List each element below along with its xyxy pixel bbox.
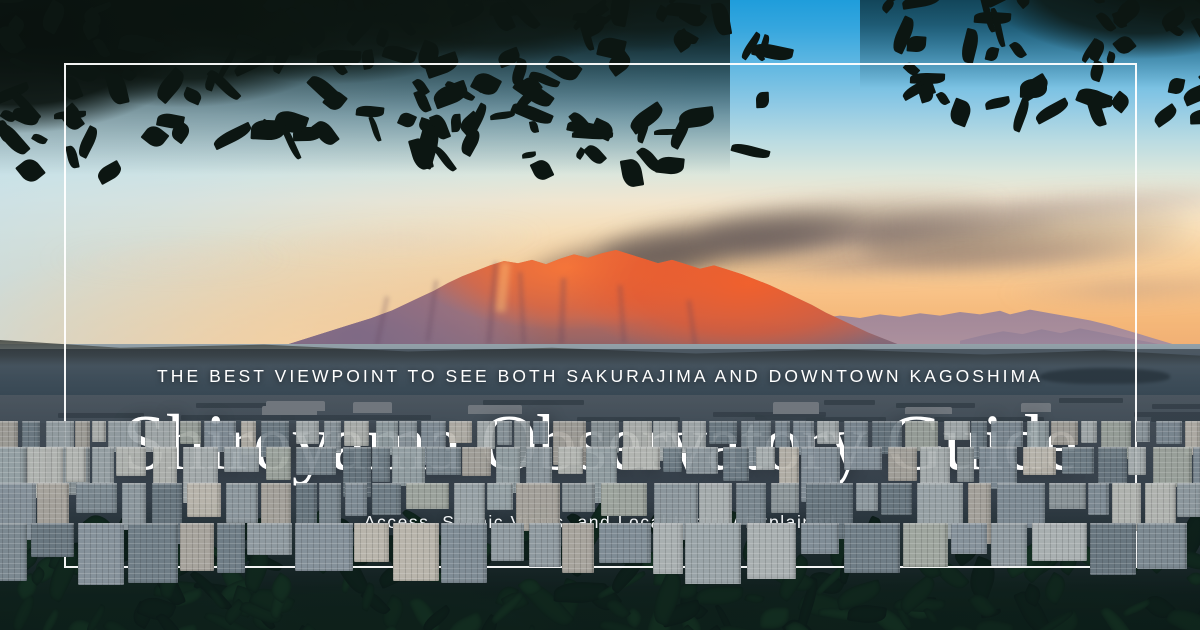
building-roof xyxy=(354,523,389,525)
building-roof xyxy=(903,523,948,525)
building-roof xyxy=(92,421,106,423)
building-roof xyxy=(968,483,991,485)
building xyxy=(354,523,389,562)
building-roof xyxy=(951,523,987,525)
building-roof xyxy=(1023,447,1056,449)
building-roof xyxy=(793,421,814,423)
building xyxy=(709,421,737,444)
building xyxy=(1153,447,1192,487)
building-roof xyxy=(31,523,74,525)
building-roof xyxy=(801,447,840,449)
building xyxy=(491,523,524,561)
building xyxy=(295,523,353,571)
building xyxy=(319,483,341,524)
building-roof xyxy=(971,421,987,423)
building xyxy=(747,523,796,579)
building-roof xyxy=(75,421,90,423)
building-roof xyxy=(1101,421,1131,423)
building-roof xyxy=(997,483,1045,485)
building-roof xyxy=(599,523,651,525)
building-roof xyxy=(682,421,706,423)
building xyxy=(1051,421,1078,445)
building xyxy=(75,421,90,448)
building-roof xyxy=(497,421,512,423)
building-roof xyxy=(399,421,417,423)
building-roof xyxy=(1153,447,1192,449)
building-roof xyxy=(0,421,18,423)
building-roof xyxy=(844,447,882,449)
hero-banner: THE BEST VIEWPOINT TO SEE BOTH SAKURAJIM… xyxy=(0,0,1200,630)
building xyxy=(372,447,390,482)
building-roof xyxy=(516,483,560,485)
building xyxy=(736,483,766,525)
building xyxy=(477,421,495,449)
building xyxy=(844,447,882,470)
building-roof xyxy=(421,421,446,423)
building-roof xyxy=(558,447,583,449)
building-roof xyxy=(449,421,472,423)
building-roof xyxy=(296,483,317,485)
building-roof xyxy=(1032,523,1087,525)
building-roof xyxy=(514,421,530,423)
building xyxy=(1137,523,1187,569)
building xyxy=(957,447,974,482)
building-roof xyxy=(0,447,25,449)
building xyxy=(78,523,124,585)
building-roof xyxy=(586,447,617,449)
building-roof xyxy=(441,523,487,525)
building-roof xyxy=(663,447,682,449)
building xyxy=(266,447,291,480)
building xyxy=(775,421,790,448)
building xyxy=(247,523,292,555)
building-roof xyxy=(801,523,839,525)
building-roof xyxy=(526,447,552,449)
building xyxy=(622,447,660,470)
building-roof xyxy=(187,483,221,485)
building-roof xyxy=(1177,483,1200,485)
building xyxy=(685,523,741,584)
building xyxy=(0,447,25,488)
building-roof xyxy=(844,523,900,525)
building xyxy=(801,523,839,554)
building-roof xyxy=(372,483,401,485)
building xyxy=(599,523,651,563)
building-roof xyxy=(1090,523,1136,525)
building-roof xyxy=(1145,483,1176,485)
building-roof xyxy=(392,447,425,449)
building-roof xyxy=(344,421,369,423)
building xyxy=(991,523,1027,566)
building-roof xyxy=(406,483,449,485)
building xyxy=(562,483,595,512)
building xyxy=(686,447,718,474)
building-roof xyxy=(817,421,839,423)
building-roof xyxy=(881,483,912,485)
building xyxy=(1081,421,1097,443)
building-roof xyxy=(92,447,114,449)
building-roof xyxy=(553,421,586,423)
building xyxy=(1177,483,1200,517)
building xyxy=(76,483,117,513)
building-roof xyxy=(756,447,775,449)
building-roof xyxy=(736,483,766,485)
building xyxy=(771,483,799,513)
building-roof xyxy=(462,447,491,449)
building xyxy=(526,447,552,486)
building xyxy=(844,523,900,573)
building-roof xyxy=(153,447,177,449)
building xyxy=(31,523,74,557)
building-roof xyxy=(27,447,63,449)
building-roof xyxy=(180,523,214,525)
building-roof xyxy=(806,483,853,485)
building xyxy=(558,447,583,474)
building-roof xyxy=(454,483,485,485)
building-roof xyxy=(723,447,749,449)
building xyxy=(187,483,221,517)
building xyxy=(441,523,487,583)
building xyxy=(497,421,512,445)
building-roof xyxy=(944,421,970,423)
building-roof xyxy=(393,523,439,525)
building-roof xyxy=(491,523,524,525)
building xyxy=(449,421,472,443)
building-roof xyxy=(217,523,245,525)
building xyxy=(46,421,74,450)
building-roof xyxy=(979,447,1017,449)
building-roof xyxy=(226,483,258,485)
building-roof xyxy=(957,447,974,449)
building-roof xyxy=(562,483,595,485)
building-roof xyxy=(116,447,146,449)
building xyxy=(997,483,1045,528)
building-roof xyxy=(1088,483,1109,485)
building xyxy=(1023,447,1056,475)
building-roof xyxy=(128,523,178,525)
building-roof xyxy=(183,447,218,449)
building xyxy=(663,447,682,472)
building-roof xyxy=(376,421,398,423)
building-roof xyxy=(685,523,741,525)
building-roof xyxy=(345,483,367,485)
building-roof xyxy=(917,483,963,485)
building xyxy=(903,523,948,567)
building xyxy=(991,421,1023,447)
building xyxy=(344,421,369,446)
building xyxy=(756,447,775,470)
building-roof xyxy=(76,483,117,485)
building xyxy=(881,483,912,515)
building xyxy=(180,421,201,444)
building xyxy=(92,421,106,442)
building-roof xyxy=(295,523,353,525)
building xyxy=(462,447,491,476)
building-roof xyxy=(779,447,799,449)
building xyxy=(406,483,449,509)
building-roof xyxy=(0,483,36,485)
building-roof xyxy=(204,421,236,423)
building-roof xyxy=(66,447,86,449)
building-roof xyxy=(529,523,561,525)
building xyxy=(128,523,178,583)
building-roof xyxy=(1049,483,1086,485)
building-roof xyxy=(856,483,878,485)
building xyxy=(296,447,336,475)
building-roof xyxy=(0,523,27,525)
building-roof xyxy=(653,421,678,423)
building-roof xyxy=(296,447,336,449)
building-roof xyxy=(46,421,74,423)
building-roof xyxy=(261,421,289,423)
building xyxy=(723,447,749,481)
building xyxy=(1156,421,1182,444)
building-roof xyxy=(654,483,698,485)
building-roof xyxy=(247,523,292,525)
building xyxy=(888,447,917,481)
building xyxy=(944,421,970,440)
building-roof xyxy=(771,483,799,485)
building-roof xyxy=(1156,421,1182,423)
building xyxy=(1088,483,1109,515)
building-roof xyxy=(487,483,513,485)
building-roof xyxy=(1062,447,1094,449)
building-roof xyxy=(266,447,291,449)
building xyxy=(1049,483,1086,509)
building-roof xyxy=(224,447,259,449)
building-roof xyxy=(991,523,1027,525)
building-roof xyxy=(533,421,548,423)
building-roof xyxy=(699,483,732,485)
building xyxy=(180,523,214,571)
building xyxy=(1062,447,1094,474)
building-roof xyxy=(591,421,619,423)
building xyxy=(533,421,548,444)
building-roof xyxy=(108,421,141,423)
building xyxy=(372,483,401,515)
building-roof xyxy=(1081,421,1097,423)
building xyxy=(529,523,561,567)
building-roof xyxy=(622,447,660,449)
building xyxy=(1090,523,1136,575)
hero-eyebrow: THE BEST VIEWPOINT TO SEE BOTH SAKURAJIM… xyxy=(0,366,1200,387)
building-roof xyxy=(1128,447,1146,449)
building-roof xyxy=(241,421,256,423)
building-roof xyxy=(145,421,176,423)
building xyxy=(217,523,245,573)
building-roof xyxy=(920,447,950,449)
building-roof xyxy=(686,447,718,449)
building-roof xyxy=(653,523,683,525)
building-roof xyxy=(775,421,790,423)
building-roof xyxy=(496,447,520,449)
building-roof xyxy=(426,447,461,449)
building-roof xyxy=(152,483,182,485)
building-roof xyxy=(1136,421,1150,423)
building xyxy=(951,523,987,554)
building-roof xyxy=(991,421,1023,423)
building-roof xyxy=(37,483,69,485)
building xyxy=(66,447,86,482)
building-roof xyxy=(1137,523,1187,525)
building-roof xyxy=(1027,421,1049,423)
building-roof xyxy=(22,421,40,423)
building xyxy=(653,523,683,574)
building-roof xyxy=(1112,483,1141,485)
building xyxy=(1098,447,1127,484)
building xyxy=(1128,447,1146,475)
building-roof xyxy=(319,483,341,485)
building-roof xyxy=(372,447,390,449)
building xyxy=(1032,523,1087,561)
building xyxy=(393,523,439,581)
building xyxy=(392,447,425,486)
building xyxy=(426,447,461,475)
building-roof xyxy=(888,447,917,449)
building-roof xyxy=(122,483,146,485)
building-roof xyxy=(747,523,796,525)
building xyxy=(1136,421,1150,442)
building-roof xyxy=(601,483,647,485)
building-roof xyxy=(905,421,938,423)
building-roof xyxy=(1185,421,1200,423)
building xyxy=(817,421,839,444)
building xyxy=(562,523,594,573)
building-roof xyxy=(741,421,771,423)
building-roof xyxy=(78,523,124,525)
building-roof xyxy=(477,421,495,423)
building xyxy=(920,447,950,487)
building-roof xyxy=(261,483,291,485)
building-roof xyxy=(296,421,319,423)
building-roof xyxy=(872,421,902,423)
building xyxy=(345,483,367,516)
building xyxy=(487,483,513,510)
building-roof xyxy=(1098,447,1127,449)
building-roof xyxy=(1193,447,1200,449)
building-roof xyxy=(343,447,371,449)
building-roof xyxy=(324,421,341,423)
building xyxy=(601,483,647,516)
building-roof xyxy=(623,421,652,423)
building-roof xyxy=(1051,421,1078,423)
building-roof xyxy=(709,421,737,423)
building xyxy=(856,483,878,511)
building-roof xyxy=(844,421,868,423)
building xyxy=(296,421,319,444)
building-roof xyxy=(562,523,594,525)
building xyxy=(226,483,258,523)
building xyxy=(0,523,27,581)
building xyxy=(116,447,146,476)
building xyxy=(224,447,259,472)
building-roof xyxy=(180,421,201,423)
